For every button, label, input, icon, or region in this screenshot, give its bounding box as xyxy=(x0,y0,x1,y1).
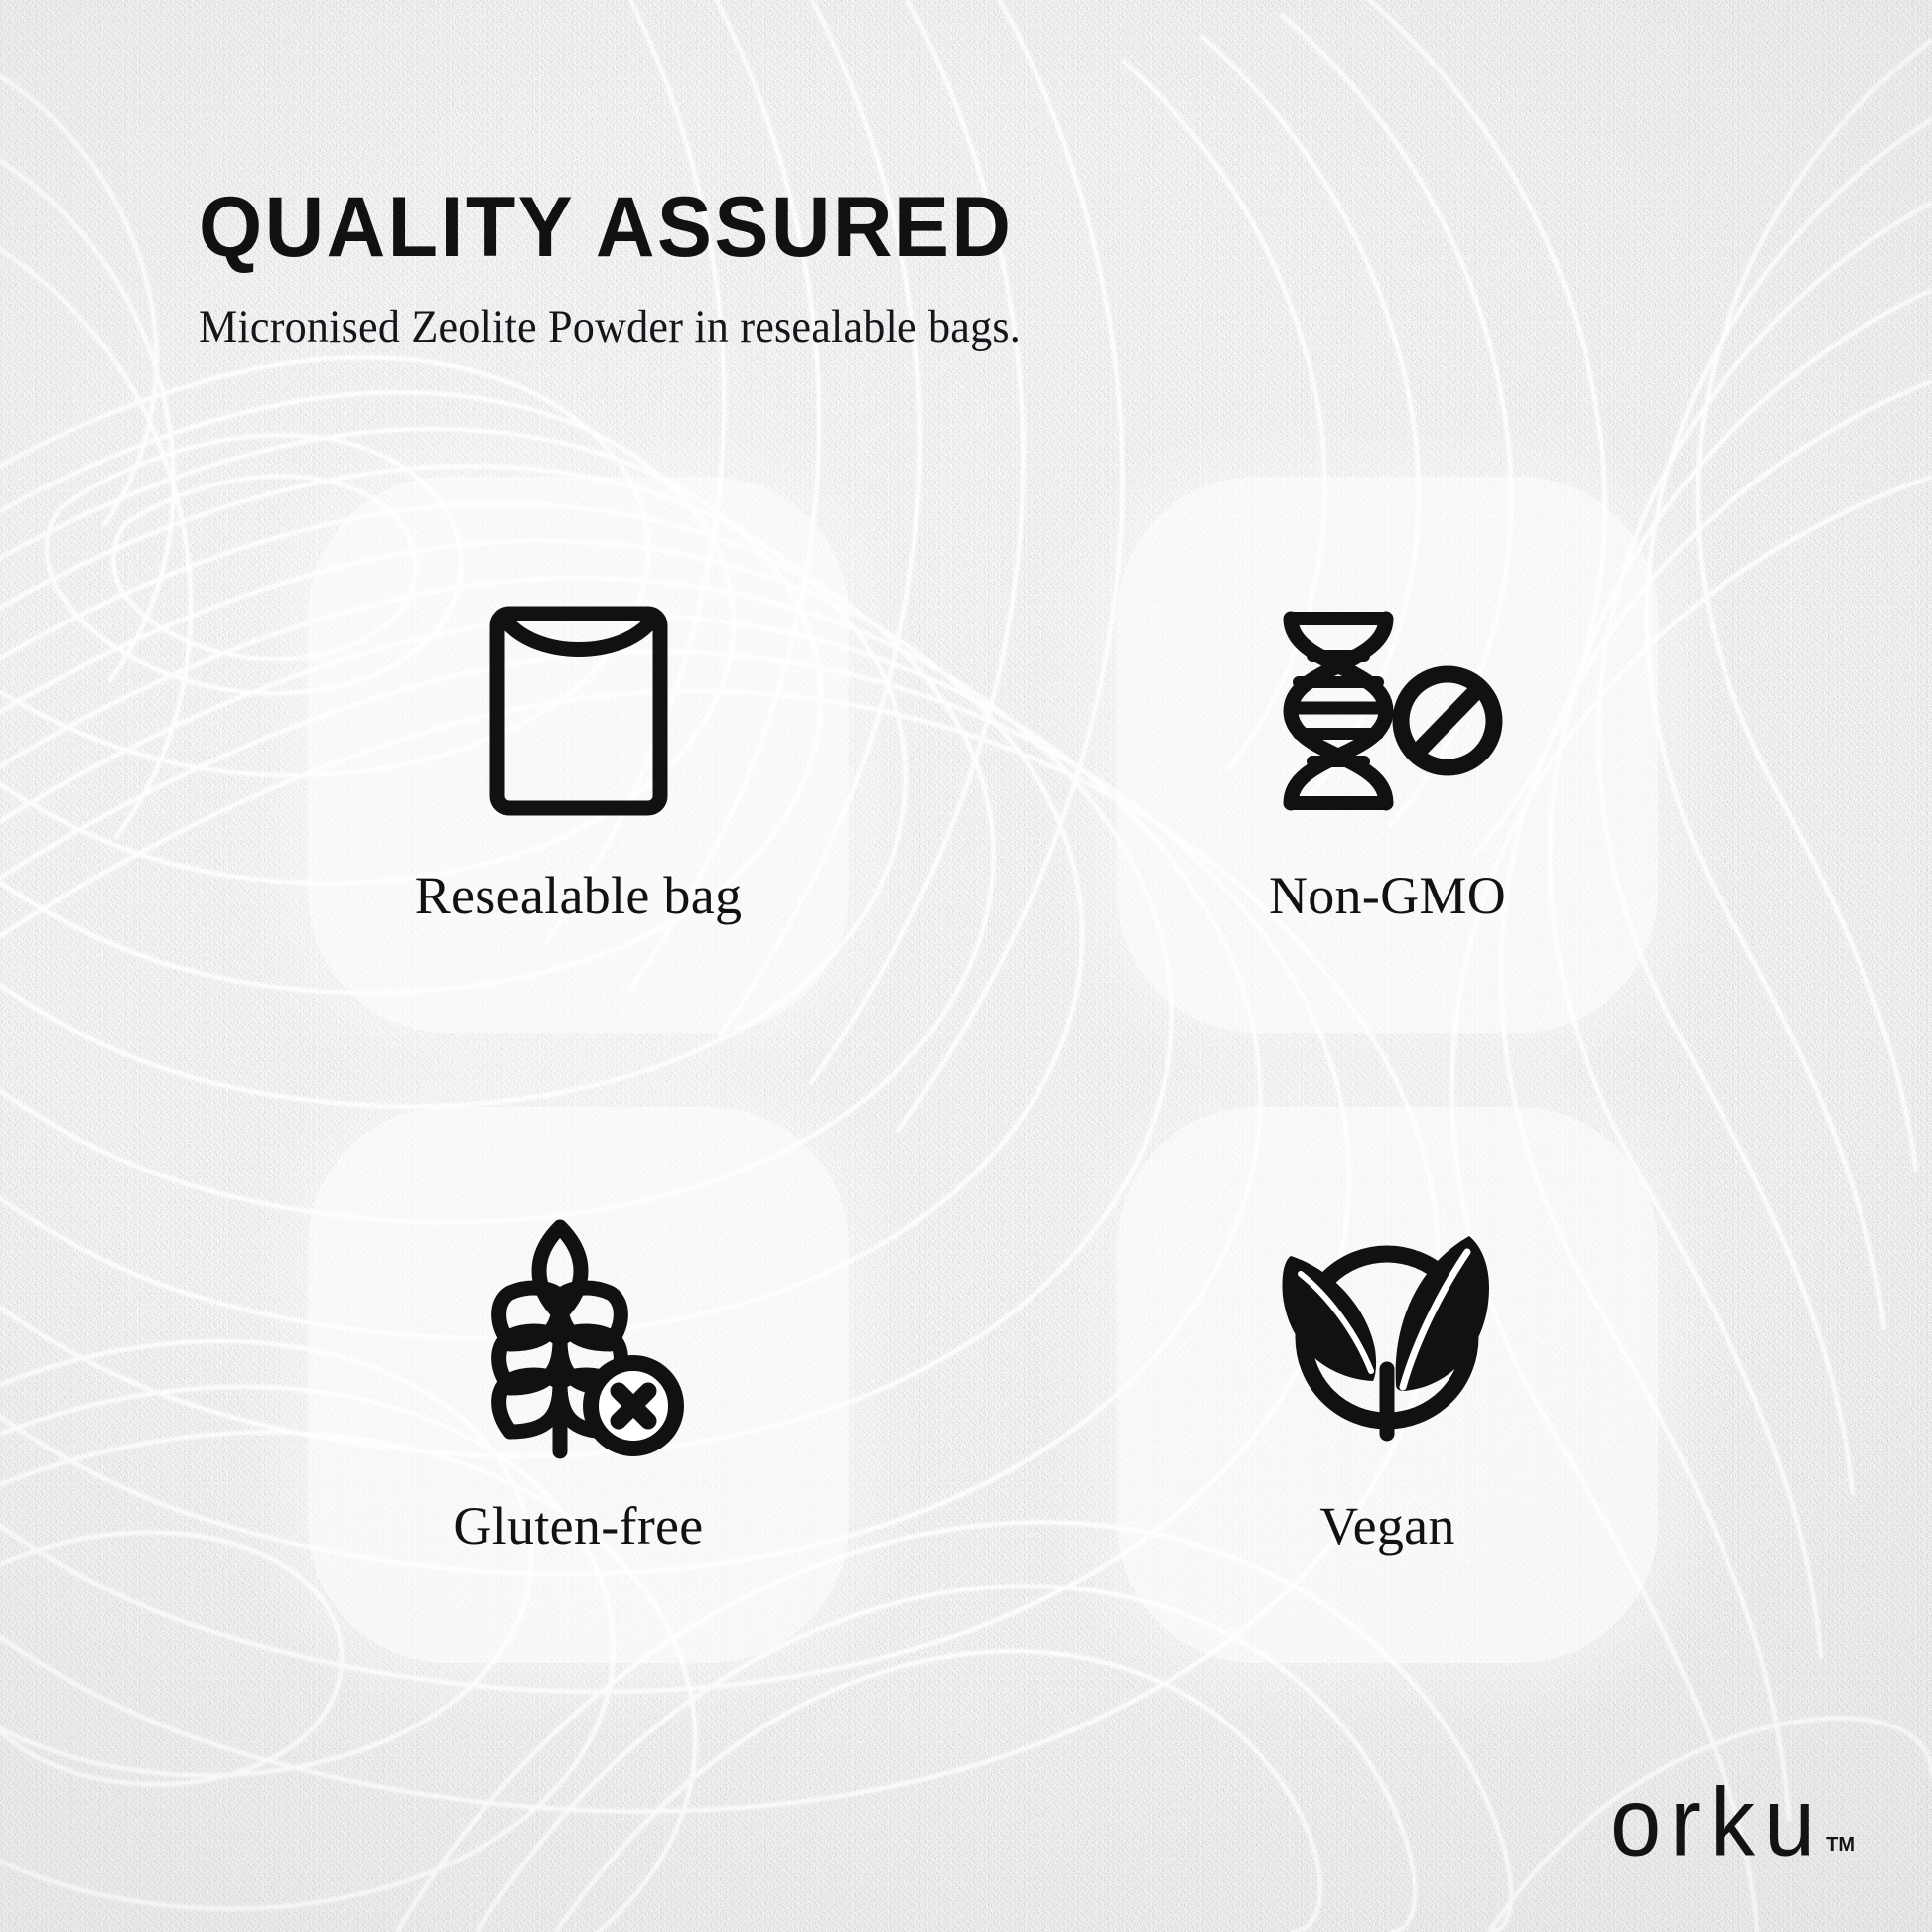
poster-canvas: QUALITY ASSURED Micronised Zeolite Powde… xyxy=(0,0,1932,1932)
non-gmo-dna-icon xyxy=(1264,587,1512,835)
feature-card-grid: Resealable bag xyxy=(308,477,1658,1668)
feature-label: Gluten-free xyxy=(453,1499,703,1553)
vegan-leaf-icon xyxy=(1264,1217,1512,1465)
gluten-free-wheat-icon xyxy=(455,1217,703,1465)
trademark-symbol: TM xyxy=(1826,1834,1855,1857)
feature-label: Resealable bag xyxy=(415,869,743,922)
feature-card-resealable-bag[interactable]: Resealable bag xyxy=(308,477,849,1033)
brand-wordmark: orku xyxy=(1610,1779,1824,1866)
feature-label: Non-GMO xyxy=(1269,869,1506,922)
page-subtitle: Micronised Zeolite Powder in resealable … xyxy=(199,302,1021,353)
resealable-bag-icon xyxy=(455,587,703,835)
feature-card-gluten-free[interactable]: Gluten-free xyxy=(308,1107,849,1663)
brand-logo: orku TM xyxy=(1610,1784,1855,1866)
feature-label: Vegan xyxy=(1319,1499,1454,1553)
page-title: QUALITY ASSURED xyxy=(199,185,1038,270)
header-block: QUALITY ASSURED Micronised Zeolite Powde… xyxy=(199,185,1073,353)
feature-card-vegan[interactable]: Vegan xyxy=(1117,1107,1658,1663)
feature-card-non-gmo[interactable]: Non-GMO xyxy=(1117,477,1658,1033)
